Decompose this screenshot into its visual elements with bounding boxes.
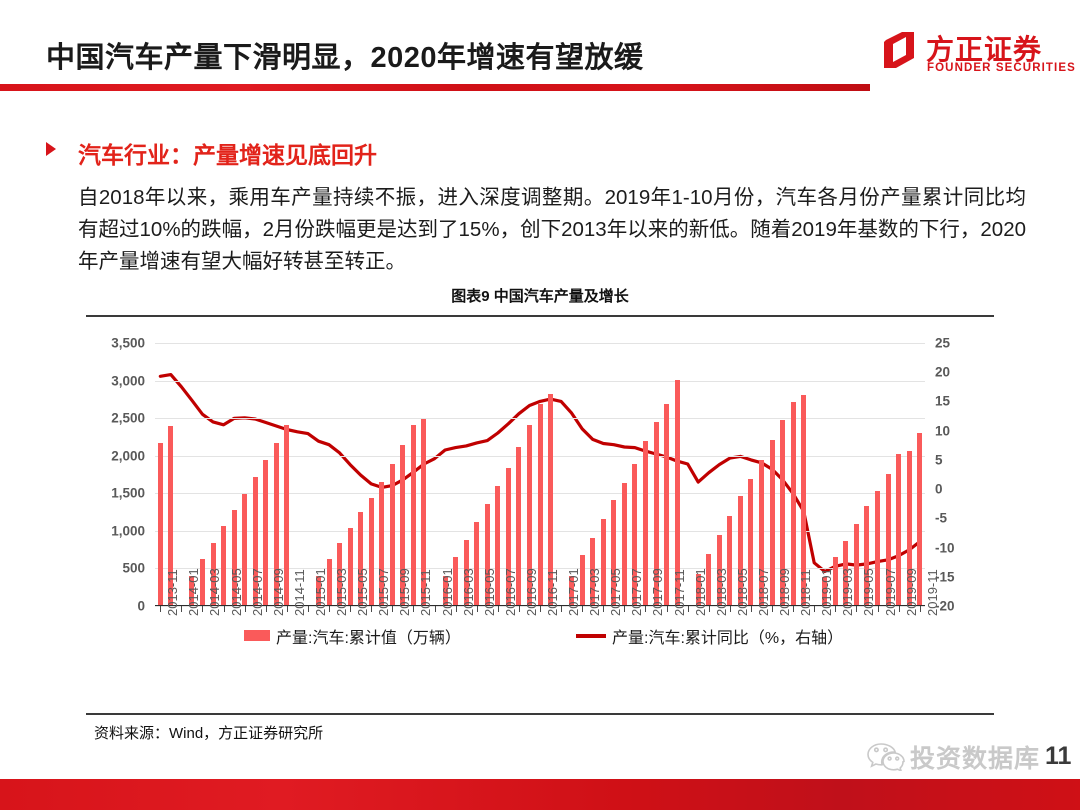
x-axis-tick-label: 2019-07 [883, 568, 898, 616]
x-axis-tick-label: 2015-11 [418, 569, 433, 616]
y-axis-tick-label: 2,500 [111, 411, 145, 426]
x-axis-tickmark [709, 606, 710, 612]
x-axis-tick-label: 2017-07 [629, 568, 644, 616]
x-axis-tickmark [772, 606, 773, 612]
x-axis-tickmark [456, 606, 457, 612]
header-accent-rule [0, 84, 870, 91]
figure-top-divider [86, 315, 994, 317]
x-axis-tick-label: 2019-01 [819, 568, 834, 616]
wechat-icon [866, 741, 906, 771]
x-axis-tick-label: 2017-11 [672, 569, 687, 616]
x-axis-tick-label: 2015-09 [397, 568, 412, 616]
x-axis-tick-label: 2016-03 [461, 568, 476, 616]
chart-gridline [155, 343, 925, 344]
x-axis-tick-label: 2015-01 [313, 568, 328, 616]
y-axis-tick-label: 1,500 [111, 486, 145, 501]
x-axis-tick-label: 2019-05 [861, 568, 876, 616]
x-axis-tickmark [308, 606, 309, 612]
x-axis-tick-label: 2016-11 [545, 569, 560, 616]
x-axis-tickmark [371, 606, 372, 612]
x-axis-tick-label: 2014-11 [292, 569, 307, 616]
x-axis-tick-label: 2018-09 [777, 568, 792, 616]
x-axis-tickmark [435, 606, 436, 612]
x-axis-tick-label: 2019-03 [840, 568, 855, 616]
x-axis-tickmark [920, 606, 921, 612]
x-axis-tickmark [582, 606, 583, 612]
x-axis-tick-label: 2018-01 [693, 568, 708, 616]
x-axis-tickmark [202, 606, 203, 612]
x-axis-tickmark [413, 606, 414, 612]
x-axis-tick-label: 2019-11 [925, 569, 940, 616]
x-axis-tick-label: 2019-09 [904, 568, 919, 616]
x-axis-tickmark [181, 606, 182, 612]
x-axis-tickmark [245, 606, 246, 612]
legend-line-label: 产量:汽车:累计同比（%，右轴） [612, 624, 843, 648]
y2-axis-tick-label: -10 [935, 540, 955, 555]
y2-axis-tick-label: 5 [935, 452, 943, 467]
chart-gridline [155, 381, 925, 382]
y-axis-tick-label: 3,500 [111, 336, 145, 351]
x-axis-tickmark [645, 606, 646, 612]
x-axis-tickmark [540, 606, 541, 612]
y2-axis-tick-label: 0 [935, 482, 943, 497]
arrow-bullet-icon [46, 142, 56, 156]
page-title: 中国汽车产量下滑明显，2020年增速有望放缓 [46, 34, 644, 76]
footer-accent-strip [0, 779, 1080, 810]
y2-axis-tick-label: 15 [935, 394, 950, 409]
y-axis-tick-label: 500 [122, 561, 145, 576]
x-axis-tickmark [751, 606, 752, 612]
x-axis-tickmark [350, 606, 351, 612]
x-axis-tickmark [835, 606, 836, 612]
x-axis-tickmark [793, 606, 794, 612]
x-axis-tickmark [603, 606, 604, 612]
x-axis-tickmark [624, 606, 625, 612]
x-axis-tick-label: 2016-09 [524, 568, 539, 616]
watermark-label: 投资数据库 [910, 739, 1040, 775]
y-axis-tick-label: 0 [137, 599, 145, 614]
x-axis-tickmark [878, 606, 879, 612]
legend-bar-swatch-icon [244, 630, 270, 641]
x-axis-tick-label: 2013-11 [165, 569, 180, 616]
page-header: 中国汽车产量下滑明显，2020年增速有望放缓 方正证券 FOUNDER SECU… [0, 0, 1080, 100]
y-axis-tick-label: 1,000 [111, 523, 145, 538]
x-axis-tick-label: 2016-01 [440, 568, 455, 616]
x-axis-tick-label: 2017-01 [566, 568, 581, 616]
x-axis-tickmark [899, 606, 900, 612]
x-axis-tick-label: 2018-05 [735, 568, 750, 616]
x-axis-tickmark [160, 606, 161, 612]
x-axis-tickmark [814, 606, 815, 612]
x-axis-tickmark [498, 606, 499, 612]
logo-english-name: FOUNDER SECURITIES [927, 62, 1076, 74]
x-axis-tick-label: 2015-03 [334, 568, 349, 616]
page-number: 11 [1045, 742, 1071, 771]
x-axis-tick-label: 2015-05 [355, 568, 370, 616]
y2-axis-tick-label: 10 [935, 423, 950, 438]
x-axis-tick-label: 2017-09 [650, 568, 665, 616]
body-paragraph: 自2018年以来，乘用车产量持续不振，进入深度调整期。2019年1-10月份，汽… [78, 182, 1026, 278]
chart-bar [158, 443, 163, 605]
x-axis-tickmark [224, 606, 225, 612]
x-axis-tickmark [667, 606, 668, 612]
x-axis-tickmark [561, 606, 562, 612]
section-heading-label: 汽车行业：产量增速见底回升 [78, 136, 377, 170]
figure-title: 图表9 中国汽车产量及增长 [86, 285, 994, 306]
x-axis-tickmark [266, 606, 267, 612]
y2-axis-tick-label: 25 [935, 336, 950, 351]
chart-plot-area [155, 343, 925, 606]
x-axis-tickmark [730, 606, 731, 612]
x-axis-tickmark [287, 606, 288, 612]
y2-axis-tick-label: 20 [935, 365, 950, 380]
y-axis-tick-label: 2,000 [111, 448, 145, 463]
legend-line-swatch-icon [576, 634, 606, 638]
chart-production-and-growth: 05001,0001,5002,0002,5003,0003,500-20-15… [86, 325, 994, 670]
y-axis-tick-label: 3,000 [111, 373, 145, 388]
figure-bottom-divider [86, 713, 994, 715]
x-axis-tick-label: 2014-01 [186, 568, 201, 616]
x-axis-tick-label: 2014-05 [229, 568, 244, 616]
company-logo: 方正证券 FOUNDER SECURITIES [880, 30, 1060, 82]
x-axis-tick-label: 2018-11 [798, 569, 813, 616]
x-axis-tickmark [392, 606, 393, 612]
x-axis-tick-label: 2017-03 [587, 568, 602, 616]
figure-source-note: 资料来源：Wind，方正证券研究所 [94, 722, 323, 743]
logo-cube-icon [880, 32, 918, 68]
x-axis-tick-label: 2016-07 [503, 568, 518, 616]
x-axis-tick-label: 2018-03 [714, 568, 729, 616]
x-axis-tick-label: 2016-05 [482, 568, 497, 616]
y2-axis-tick-label: -5 [935, 511, 947, 526]
x-axis-tick-label: 2015-07 [376, 568, 391, 616]
x-axis-tickmark [688, 606, 689, 612]
x-axis-tick-label: 2014-09 [271, 568, 286, 616]
legend-bar-label: 产量:汽车:累计值（万辆） [276, 624, 461, 648]
x-axis-tickmark [329, 606, 330, 612]
x-axis-tick-label: 2018-07 [756, 568, 771, 616]
x-axis-tick-label: 2014-07 [250, 568, 265, 616]
x-axis-tickmark [477, 606, 478, 612]
figure-block: 图表9 中国汽车产量及增长 05001,0001,5002,0002,5003,… [86, 285, 994, 735]
x-axis-tick-label: 2017-05 [608, 568, 623, 616]
x-axis-tick-label: 2014-03 [207, 568, 222, 616]
chart-legend: 产量:汽车:累计值（万辆） 产量:汽车:累计同比（%，右轴） [86, 625, 994, 653]
x-axis-tickmark [519, 606, 520, 612]
x-axis-tickmark [856, 606, 857, 612]
